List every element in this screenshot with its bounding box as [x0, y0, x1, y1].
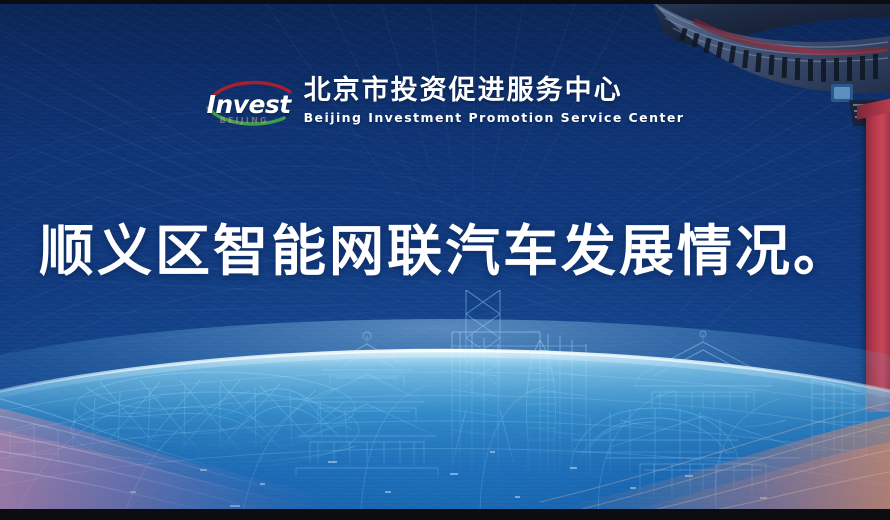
presentation-slide: Invest BEIJING 北京市投资促进服务中心 Beijing Inves…: [0, 0, 890, 520]
letterbox-top: [0, 0, 890, 4]
letterbox-bottom: [0, 509, 890, 520]
brand-header: Invest BEIJING 北京市投资促进服务中心 Beijing Inves…: [0, 76, 890, 130]
logo-sub-wordmark: BEIJING: [220, 116, 269, 125]
organization-name-cn: 北京市投资促进服务中心: [304, 76, 685, 105]
organization-name-en: Beijing Investment Promotion Service Cen…: [304, 110, 685, 125]
invest-swoosh-logo: Invest BEIJING: [206, 78, 292, 130]
logo-wordmark: Invest: [207, 90, 291, 119]
flowing-ribbon-waves: [0, 370, 890, 520]
slide-title: 顺义区智能网联汽车发展情况。: [0, 206, 890, 286]
brand-text-block: 北京市投资促进服务中心 Beijing Investment Promotion…: [304, 76, 685, 125]
